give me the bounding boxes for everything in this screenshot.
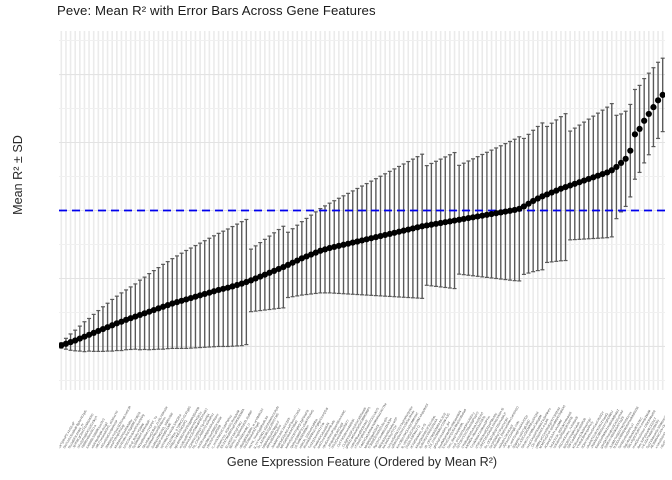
x-axis-label: Gene Expression Feature (Ordered by Mean…	[59, 455, 665, 469]
chart-figure: Peve: Mean R² with Error Bars Across Gen…	[0, 0, 672, 480]
x-axis-tick-labels: CKTjDbuPZ.v1c52.qPtSs7Uz01Scq6iuB-fjgAw7…	[59, 391, 665, 449]
chart-title: Peve: Mean R² with Error Bars Across Gen…	[57, 3, 376, 18]
data-layer	[59, 31, 665, 390]
plot-panel	[59, 31, 665, 390]
